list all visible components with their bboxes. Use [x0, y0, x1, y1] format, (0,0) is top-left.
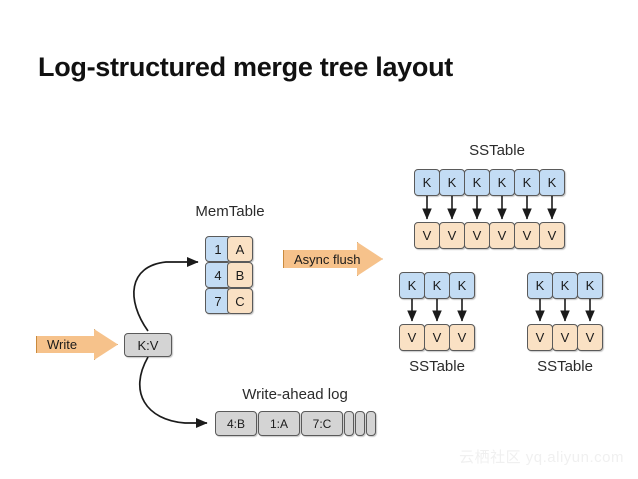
sstable-key-cell[interactable]: K	[577, 272, 603, 299]
sstable-bottom-right-arrow-layer	[0, 0, 638, 479]
diagram-canvas: Log-structured merge tree layout Write K…	[0, 0, 638, 479]
sstable-key-cell[interactable]: K	[552, 272, 578, 299]
watermark: 云栖社区 yq.aliyun.com	[459, 446, 624, 467]
sstable-key-cell[interactable]: K	[527, 272, 553, 299]
sstable-label: SSTable	[520, 358, 610, 375]
sstable-value-cell[interactable]: V	[577, 324, 603, 351]
sstable-value-cell[interactable]: V	[552, 324, 578, 351]
sstable-value-cell[interactable]: V	[527, 324, 553, 351]
